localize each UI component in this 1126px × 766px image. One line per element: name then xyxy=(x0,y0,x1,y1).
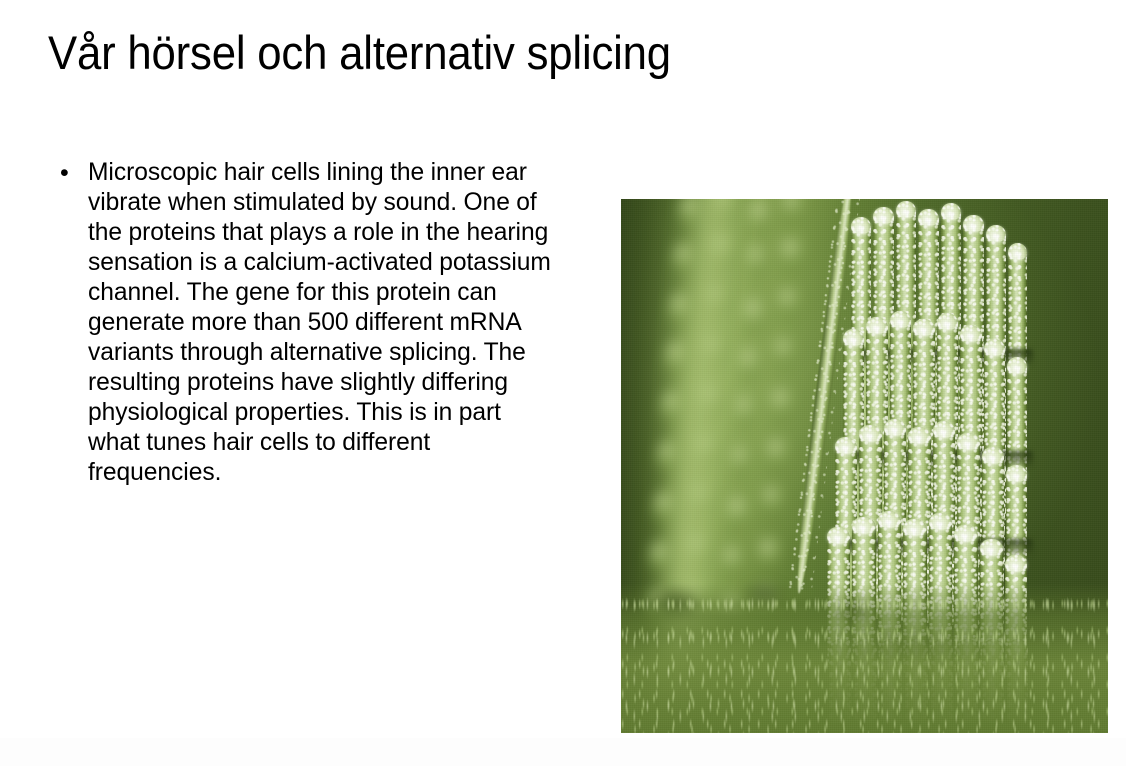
content-placeholder: • Microscopic hair cells lining the inne… xyxy=(56,158,556,488)
bullet-text: Microscopic hair cells lining the inner … xyxy=(88,158,556,488)
slide: Vår hörsel och alternativ splicing • Mic… xyxy=(0,0,1126,766)
hair-cell-micrograph-image xyxy=(621,199,1108,733)
bullet-icon: • xyxy=(60,158,69,188)
list-item: • Microscopic hair cells lining the inne… xyxy=(56,158,556,488)
micrograph-microvilli-carpet xyxy=(621,583,1108,733)
slide-footer-band xyxy=(0,738,1126,766)
page-title: Vår hörsel och alternativ splicing xyxy=(48,24,978,82)
